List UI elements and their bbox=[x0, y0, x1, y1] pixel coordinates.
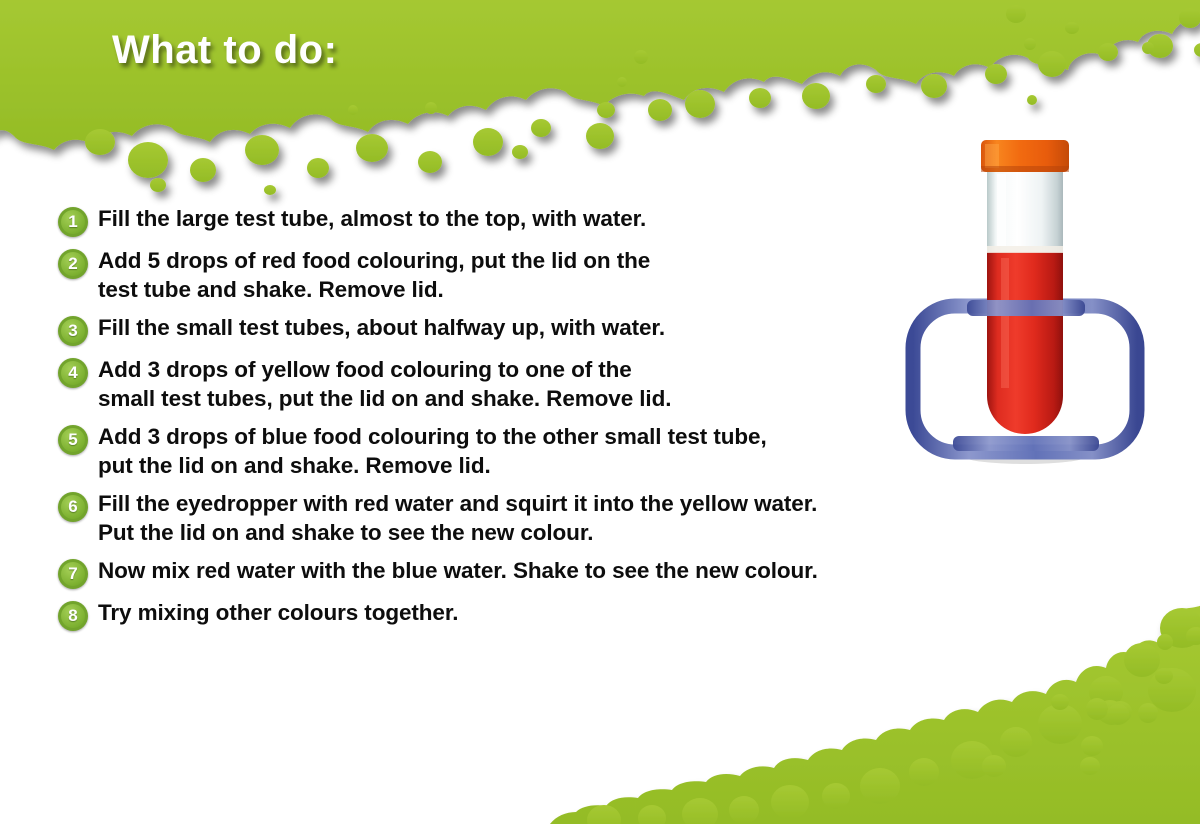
list-item: 5 Add 3 drops of blue food colouring to … bbox=[58, 422, 1118, 480]
step-text: Add 3 drops of yellow food colouring to … bbox=[98, 355, 671, 413]
step-text-line1: Now mix red water with the blue water. S… bbox=[98, 558, 818, 583]
step-text-line1: Try mixing other colours together. bbox=[98, 600, 458, 625]
step-number-badge: 7 bbox=[58, 559, 88, 589]
step-number-label: 2 bbox=[58, 249, 88, 279]
step-number-label: 3 bbox=[58, 316, 88, 346]
step-number-label: 7 bbox=[58, 559, 88, 589]
instruction-list: 1 Fill the large test tube, almost to th… bbox=[58, 204, 1118, 640]
page-root: What to do: 1 bbox=[0, 0, 1200, 824]
step-text-line1: Fill the eyedropper with red water and s… bbox=[98, 491, 817, 516]
step-text-line1: Add 3 drops of yellow food colouring to … bbox=[98, 357, 632, 382]
step-number-badge: 4 bbox=[58, 358, 88, 388]
step-number-label: 4 bbox=[58, 358, 88, 388]
list-item: 7 Now mix red water with the blue water.… bbox=[58, 556, 1118, 589]
step-text: Now mix red water with the blue water. S… bbox=[98, 556, 818, 585]
list-item: 8 Try mixing other colours together. bbox=[58, 598, 1118, 631]
list-item: 2 Add 5 drops of red food colouring, put… bbox=[58, 246, 1118, 304]
step-number-label: 1 bbox=[58, 207, 88, 237]
step-text: Fill the large test tube, almost to the … bbox=[98, 204, 646, 233]
list-item: 3 Fill the small test tubes, about halfw… bbox=[58, 313, 1118, 346]
step-number-label: 5 bbox=[58, 425, 88, 455]
step-text-line2: put the lid on and shake. Remove lid. bbox=[98, 451, 767, 480]
step-text-line2: Put the lid on and shake to see the new … bbox=[98, 518, 817, 547]
list-item: 1 Fill the large test tube, almost to th… bbox=[58, 204, 1118, 237]
step-text: Add 3 drops of blue food colouring to th… bbox=[98, 422, 767, 480]
step-text: Add 5 drops of red food colouring, put t… bbox=[98, 246, 650, 304]
step-text: Fill the small test tubes, about halfway… bbox=[98, 313, 665, 342]
step-number-label: 8 bbox=[58, 601, 88, 631]
step-text: Try mixing other colours together. bbox=[98, 598, 458, 627]
step-number-badge: 8 bbox=[58, 601, 88, 631]
step-number-badge: 3 bbox=[58, 316, 88, 346]
step-text-line1: Add 3 drops of blue food colouring to th… bbox=[98, 424, 767, 449]
step-text-line2: test tube and shake. Remove lid. bbox=[98, 275, 650, 304]
page-title: What to do: bbox=[112, 28, 337, 73]
step-text-line1: Fill the large test tube, almost to the … bbox=[98, 206, 646, 231]
step-number-badge: 6 bbox=[58, 492, 88, 522]
step-number-badge: 5 bbox=[58, 425, 88, 455]
step-text-line1: Fill the small test tubes, about halfway… bbox=[98, 315, 665, 340]
step-text: Fill the eyedropper with red water and s… bbox=[98, 489, 817, 547]
step-text-line2: small test tubes, put the lid on and sha… bbox=[98, 384, 671, 413]
list-item: 6 Fill the eyedropper with red water and… bbox=[58, 489, 1118, 547]
step-number-label: 6 bbox=[58, 492, 88, 522]
step-text-line1: Add 5 drops of red food colouring, put t… bbox=[98, 248, 650, 273]
list-item: 4 Add 3 drops of yellow food colouring t… bbox=[58, 355, 1118, 413]
step-number-badge: 2 bbox=[58, 249, 88, 279]
step-number-badge: 1 bbox=[58, 207, 88, 237]
